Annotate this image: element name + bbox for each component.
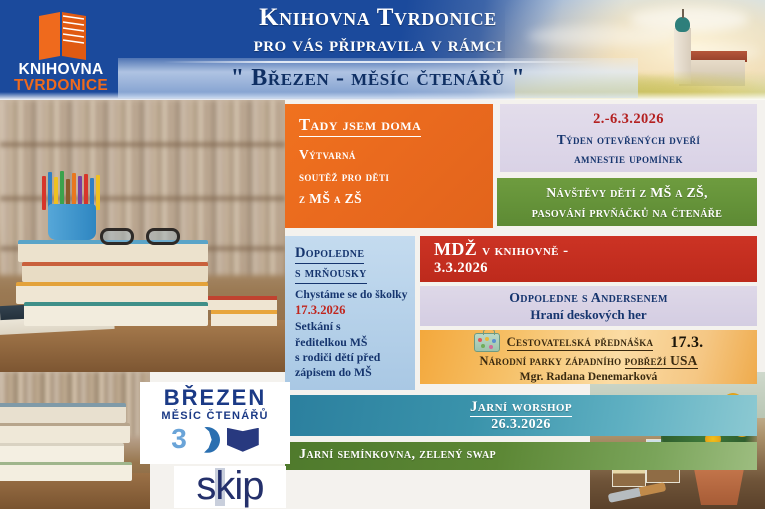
card-line: Jarní semínkovna, zelený swap (299, 447, 496, 462)
card-heading-bold: MDŽ (434, 239, 477, 259)
card-line: z MŠ a ZŠ (299, 188, 493, 210)
book-stack (18, 240, 208, 326)
tower-spire (682, 9, 684, 18)
eyeglasses (100, 228, 182, 246)
book (22, 262, 208, 282)
card-line: soutěž pro děti (299, 166, 493, 188)
poster-header: KNIHOVNA TVRDONICE Knihovna Tvrdonice pr… (0, 0, 765, 100)
pencil-cup (48, 204, 96, 240)
library-books-photo (0, 100, 285, 372)
card-heading-2: s mrňousky (295, 264, 367, 284)
card-line: Návštěvy dětí z MŠ a ZŠ, (497, 183, 757, 203)
shelf-line (0, 142, 285, 147)
poster-subtitle-band: " Březen - měsíc čtenářů " (118, 58, 638, 98)
card-heading-rest: v knihovně - (482, 243, 568, 259)
stacked-books-photo (0, 372, 150, 509)
card-line: Týden otevřených dveří (500, 130, 757, 149)
event-card-seed-swap[interactable]: Jarní semínkovna, zelený swap (285, 442, 757, 470)
poster-canvas: KNIHOVNA TVRDONICE Knihovna Tvrdonice pr… (0, 0, 765, 509)
event-card-morning-toddlers[interactable]: Dopoledne s mrňousky Chystáme se do škol… (285, 236, 415, 390)
book (0, 462, 132, 481)
logo-subname: TVRDONICE (10, 78, 112, 94)
brezen-mesic-ctenaru-logo: BŘEZEN MĚSÍC ČTENÁŘŮ 3 (140, 382, 290, 464)
card-heading: Dopoledne (295, 244, 364, 264)
skip-logo: skip (174, 466, 286, 508)
card-line: amnestie upomínek (500, 149, 757, 168)
card-line: Hraní deskových her (420, 307, 757, 324)
side-book-red (207, 296, 277, 310)
brezen-subtitle: MĚSÍC ČTENÁŘŮ (140, 410, 290, 422)
brezen-title: BŘEZEN (140, 387, 290, 409)
brezen-numeral: 3 (171, 426, 187, 453)
card-heading: Tady jsem doma (299, 115, 421, 137)
book-stack (0, 401, 126, 481)
card-date: 17.3.2026 (295, 302, 415, 319)
poster-title-block: Knihovna Tvrdonice pro vás připravila v … (118, 4, 638, 65)
card-speaker: Mgr. Radana Denemarková (420, 370, 757, 383)
card-subtitle: Chystáme se do školky (295, 287, 415, 302)
card-line: s rodiči dětí před (295, 350, 415, 365)
card-date: 3.3.2026 (434, 260, 757, 277)
poster-title-line3: " Březen - měsíc čtenářů " (231, 65, 526, 91)
card-heading: Odpoledne s Andersenem (420, 289, 757, 307)
card-date: 17.3. (670, 334, 703, 352)
card-line: Setkání s (295, 319, 415, 334)
card-line: zápisem do MŠ (295, 365, 415, 380)
spring-garden-photo (590, 372, 765, 509)
skip-logo-text: skip (174, 466, 286, 506)
card-date: 26.3.2026 (285, 417, 757, 433)
event-card-travel-lecture[interactable]: Cestovatelská přednáška 17.3. Národní pa… (420, 330, 757, 384)
card-heading: Jarní worshop (470, 399, 572, 417)
tower-dome (675, 17, 690, 32)
card-line: pasování prvňáčků na čtenáře (497, 203, 757, 223)
card-line-prefix: Národní parky západního (479, 354, 624, 368)
card-line: ředitelkou MŠ (295, 335, 415, 350)
library-logo: KNIHOVNA TVRDONICE (10, 4, 112, 96)
card-line: Výtvarná (299, 144, 493, 166)
card-line-emphasis: pobřeží USA (625, 353, 698, 369)
card-date: 2.-6.3.2026 (500, 111, 757, 128)
book (0, 403, 126, 423)
open-book-icon (227, 428, 259, 452)
event-card-open-days[interactable]: 2.-6.3.2026 Týden otevřených dveří amnes… (500, 104, 757, 172)
event-card-andersen[interactable]: Odpoledne s Andersenem Hraní deskových h… (420, 286, 757, 326)
event-card-mdz[interactable]: MDŽ v knihovně - 3.3.2026 (420, 236, 757, 282)
book (24, 302, 208, 326)
side-books (207, 296, 277, 326)
book (16, 282, 208, 304)
suitcase-icon (474, 333, 500, 352)
event-card-school-visits[interactable]: Návštěvy dětí z MŠ a ZŠ, pasování prvňáč… (497, 178, 757, 226)
logo-name: KNIHOVNA (10, 62, 112, 78)
book (0, 443, 124, 463)
book (0, 423, 130, 443)
poster-title-line1: Knihovna Tvrdonice (118, 4, 638, 32)
open-book-icon (36, 10, 90, 62)
side-book-orange (211, 310, 277, 326)
event-card-art-contest[interactable]: Tady jsem doma Výtvarná soutěž pro děti … (285, 104, 493, 228)
event-card-spring-workshop[interactable]: Jarní worshop 26.3.2026 (285, 395, 757, 436)
poster-title-line2: pro vás připravila v rámci (118, 32, 638, 57)
card-heading: Cestovatelská přednáška (507, 335, 654, 351)
moon-icon (194, 427, 220, 453)
